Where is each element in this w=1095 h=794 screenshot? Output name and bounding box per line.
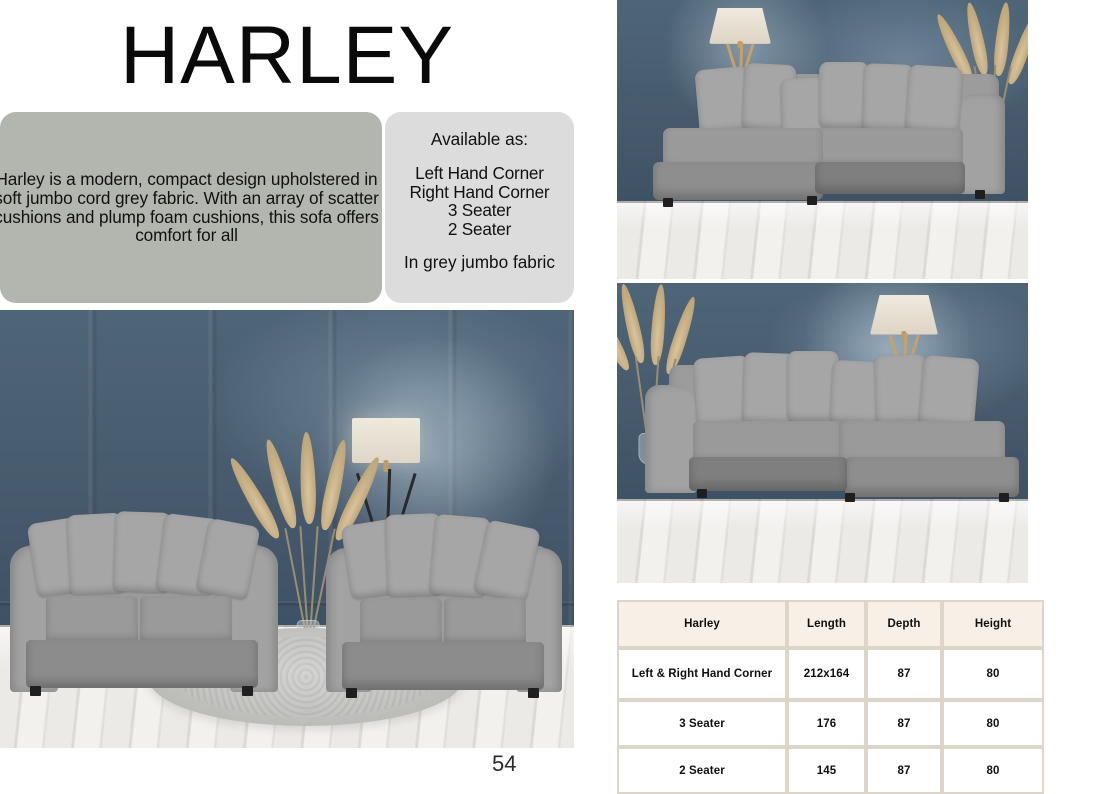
cell-length: 145 — [787, 747, 866, 794]
description-panel: Harley is a modern, compact design uphol… — [0, 112, 382, 303]
table-header-length: Length — [787, 600, 866, 648]
photo-right-hand-corner-sofa — [617, 283, 1028, 583]
cell-model: 2 Seater — [617, 747, 787, 794]
table-row: 3 Seater 176 87 80 — [617, 700, 1044, 747]
room-floor — [617, 499, 1028, 583]
availability-panel: Available as: Left Hand Corner Right Han… — [385, 112, 574, 303]
sofa-right-hand-corner — [639, 359, 1019, 509]
page-number: 54 — [492, 750, 516, 778]
cell-height: 80 — [942, 747, 1044, 794]
cell-length: 176 — [787, 700, 866, 747]
description-text: Harley is a modern, compact design uphol… — [0, 170, 382, 244]
lamp-shade — [709, 8, 771, 44]
cell-model: 3 Seater — [617, 700, 787, 747]
cell-length: 212x164 — [787, 648, 866, 700]
cell-model: Left & Right Hand Corner — [617, 648, 787, 700]
availability-heading: Available as: — [389, 128, 570, 150]
table-header-model: Harley — [617, 600, 787, 648]
room-floor — [617, 201, 1028, 279]
cell-depth: 87 — [866, 700, 942, 747]
cell-height: 80 — [942, 700, 1044, 747]
cell-height: 80 — [942, 648, 1044, 700]
availability-options: Left Hand Corner Right Hand Corner 3 Sea… — [389, 164, 570, 238]
availability-fabric: In grey jumbo fabric — [389, 253, 570, 272]
table-header-row: Harley Length Depth Height — [617, 600, 1044, 648]
sofa-2-seater — [324, 512, 562, 700]
lamp-shade — [870, 295, 938, 335]
table-header-height: Height — [942, 600, 1044, 648]
sofa-left-hand-corner — [639, 70, 1014, 210]
table-header-depth: Depth — [866, 600, 942, 648]
photo-3-and-2-seater-set — [0, 310, 574, 748]
lamp-shade — [352, 418, 420, 463]
photo-left-hand-corner-sofa — [617, 0, 1028, 279]
cell-depth: 87 — [866, 747, 942, 794]
page-title: HARLEY — [0, 8, 574, 104]
cell-depth: 87 — [866, 648, 942, 700]
table-row: Left & Right Hand Corner 212x164 87 80 — [617, 648, 1044, 700]
sofa-3-seater — [6, 510, 278, 700]
table-row: 2 Seater 145 87 80 — [617, 747, 1044, 794]
specification-table: Harley Length Depth Height Left & Right … — [617, 600, 1044, 794]
